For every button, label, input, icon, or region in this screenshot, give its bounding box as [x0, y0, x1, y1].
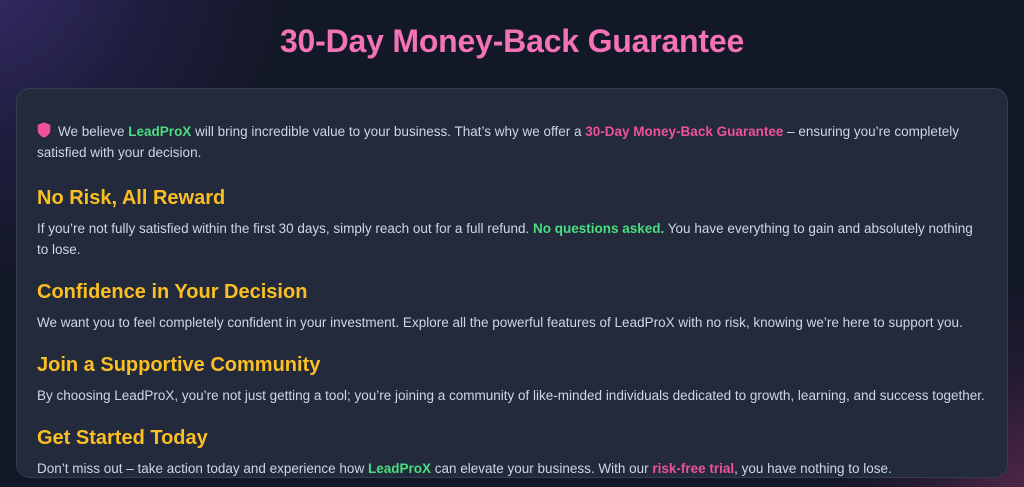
section-body-no-risk: If you’re not fully satisfied within the…	[37, 211, 987, 260]
body-text-part1: We want you to feel completely confident…	[37, 315, 963, 330]
intro-guarantee-highlight: 30-Day Money-Back Guarantee	[585, 124, 783, 139]
body-text-part1: By choosing LeadProX, you’re not just ge…	[37, 388, 985, 403]
body-text-part1: Don’t miss out – take action today and e…	[37, 461, 368, 476]
section-heading-confidence: Confidence in Your Decision	[37, 279, 987, 305]
section-get-started: Get Started Today Don’t miss out – take …	[37, 425, 987, 479]
intro-text-part1: We believe	[58, 124, 128, 139]
guarantee-page: 30-Day Money-Back Guarantee We believe L…	[0, 0, 1024, 487]
page-title: 30-Day Money-Back Guarantee	[0, 0, 1024, 61]
shield-icon	[37, 122, 51, 138]
section-no-risk: No Risk, All Reward If you’re not fully …	[37, 185, 987, 260]
body-text-part1: If you’re not fully satisfied within the…	[37, 221, 533, 236]
body-text-part3: , you have nothing to lose.	[734, 461, 892, 476]
body-highlight-no-questions: No questions asked.	[533, 221, 664, 236]
section-body-confidence: We want you to feel completely confident…	[37, 305, 987, 333]
section-heading-get-started: Get Started Today	[37, 425, 987, 451]
section-body-community: By choosing LeadProX, you’re not just ge…	[37, 378, 987, 406]
intro-paragraph: We believe LeadProX will bring incredibl…	[37, 121, 987, 163]
section-community: Join a Supportive Community By choosing …	[37, 352, 987, 406]
section-body-get-started: Don’t miss out – take action today and e…	[37, 451, 987, 479]
body-highlight-brand: LeadProX	[368, 461, 431, 476]
intro-brand-name: LeadProX	[128, 124, 191, 139]
section-heading-community: Join a Supportive Community	[37, 352, 987, 378]
body-highlight-risk-free-trial: risk-free trial	[652, 461, 734, 476]
section-heading-no-risk: No Risk, All Reward	[37, 185, 987, 211]
guarantee-card: We believe LeadProX will bring incredibl…	[16, 88, 1008, 478]
body-text-part2: can elevate your business. With our	[431, 461, 652, 476]
section-confidence: Confidence in Your Decision We want you …	[37, 279, 987, 333]
intro-text-part2: will bring incredible value to your busi…	[191, 124, 585, 139]
